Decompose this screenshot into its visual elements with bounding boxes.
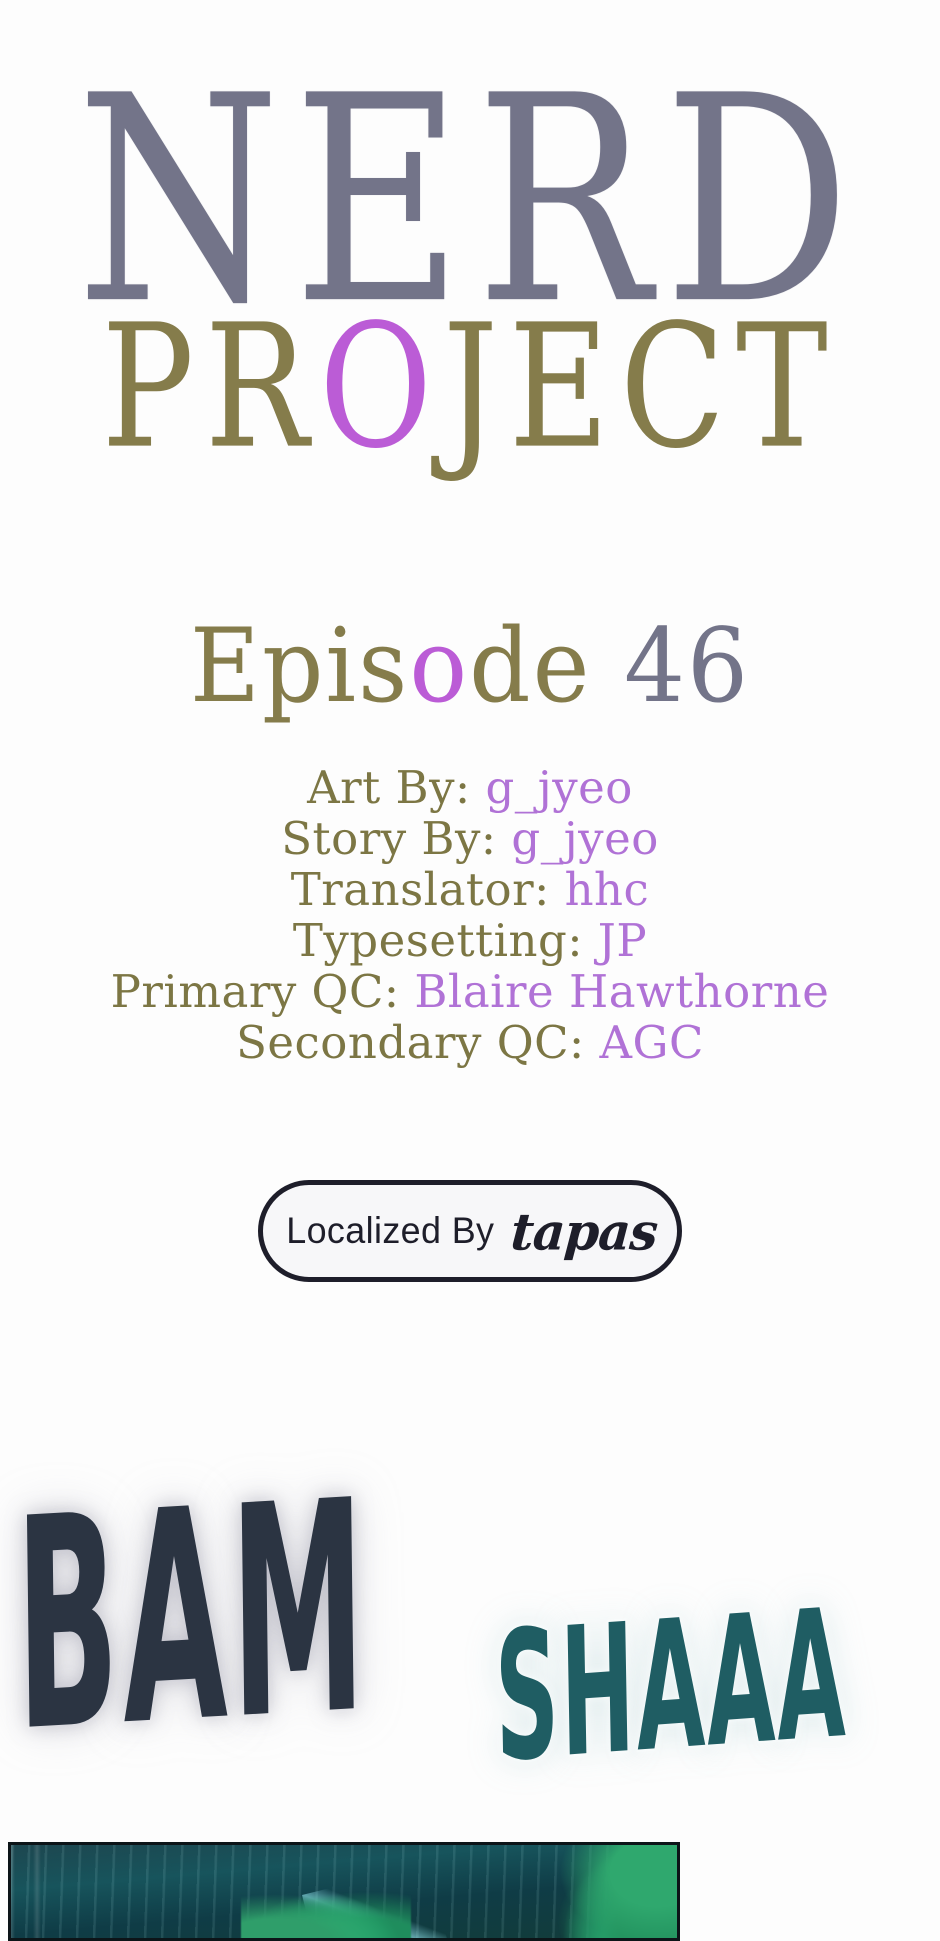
foliage-left bbox=[241, 1886, 411, 1941]
sfx-shaaa: SHAAA bbox=[493, 1570, 848, 1802]
credit-label: Story By: bbox=[281, 812, 496, 865]
series-title-project: PROJECT bbox=[14, 303, 926, 473]
project-text-after: JECT bbox=[443, 288, 839, 486]
credit-row-story-by: Story By: g_jyeo bbox=[0, 813, 940, 864]
title-wordmark: NERD PROJECT bbox=[0, 0, 940, 459]
credit-value: g_jyeo bbox=[511, 812, 658, 865]
project-text-before: PR bbox=[101, 288, 319, 486]
credits-block: Art By: g_jyeo Story By: g_jyeo Translat… bbox=[0, 762, 940, 1068]
episode-word-before: Epis bbox=[190, 607, 410, 726]
localized-by-tapas-badge[interactable]: Localized By tapas bbox=[258, 1180, 682, 1282]
credit-row-primary-qc: Primary QC: Blaire Hawthorne bbox=[0, 966, 940, 1017]
foliage-right bbox=[553, 1842, 680, 1941]
credit-row-secondary-qc: Secondary QC: AGC bbox=[0, 1017, 940, 1068]
project-accent-letter: O bbox=[319, 288, 443, 486]
sfx-bam: BAM bbox=[14, 1439, 371, 1797]
credit-label: Art By: bbox=[307, 761, 471, 814]
episode-word-after: de bbox=[469, 607, 591, 726]
episode-heading: Episode 46 bbox=[0, 607, 940, 726]
episode-accent-letter: o bbox=[409, 607, 469, 726]
credit-label: Typesetting: bbox=[293, 914, 583, 967]
credit-row-translator: Translator: hhc bbox=[0, 864, 940, 915]
credit-row-typesetting: Typesetting: JP bbox=[0, 915, 940, 966]
credit-label: Translator: bbox=[291, 863, 550, 916]
credit-value: hhc bbox=[565, 863, 650, 916]
credit-value: g_jyeo bbox=[485, 761, 632, 814]
credit-value: JP bbox=[598, 914, 647, 967]
credit-value: Blaire Hawthorne bbox=[414, 965, 829, 1018]
credit-row-art-by: Art By: g_jyeo bbox=[0, 762, 940, 813]
tapas-logo: tapas bbox=[509, 1201, 659, 1261]
credit-label: Secondary QC: bbox=[236, 1016, 585, 1069]
credit-label: Primary QC: bbox=[111, 965, 400, 1018]
localized-by-label: Localized By bbox=[286, 1210, 494, 1252]
credit-value: AGC bbox=[600, 1016, 704, 1069]
comic-panel-rain-scene bbox=[8, 1842, 680, 1941]
episode-number: 46 bbox=[624, 607, 750, 726]
